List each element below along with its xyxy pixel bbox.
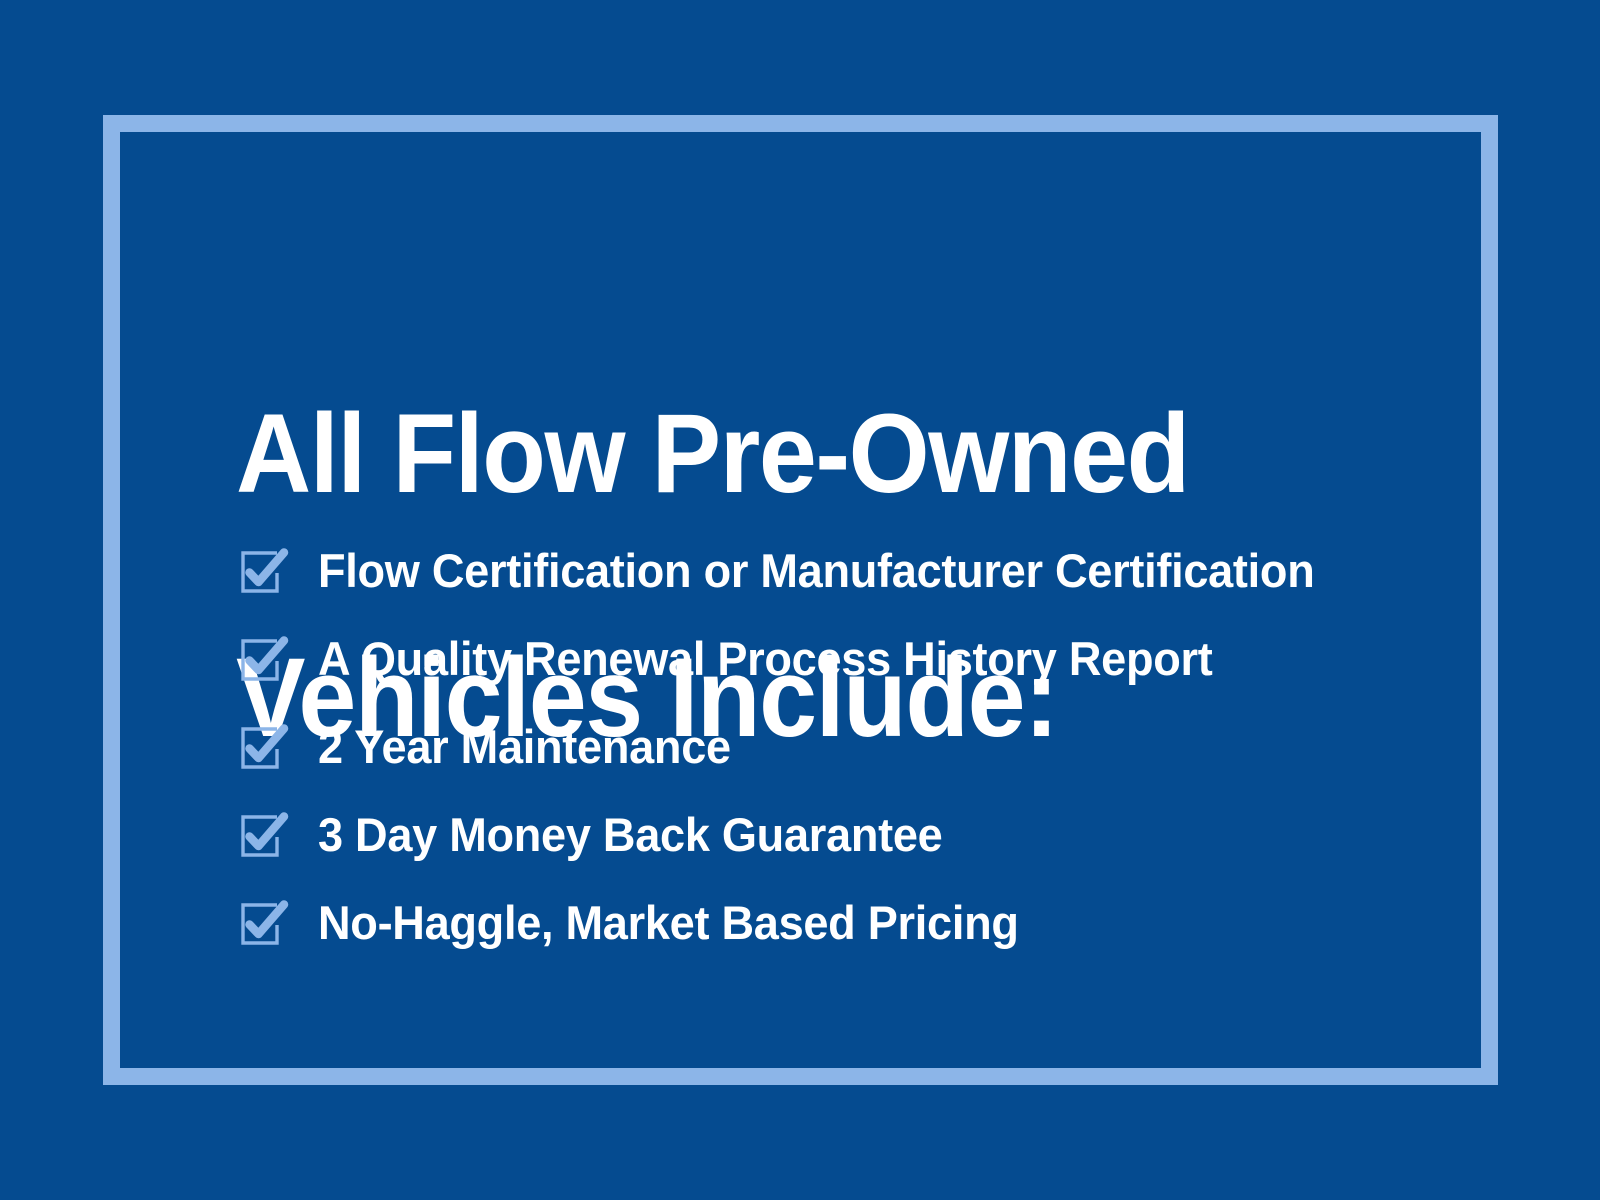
list-item: 2 Year Maintenance: [236, 703, 1436, 791]
checkbox-checked-icon: [236, 810, 292, 860]
list-item-label: No-Haggle, Market Based Pricing: [318, 898, 1019, 948]
list-item: 3 Day Money Back Guarantee: [236, 791, 1436, 879]
checkbox-checked-icon: [236, 634, 292, 684]
benefits-list: Flow Certification or Manufacturer Certi…: [236, 527, 1436, 967]
checkbox-checked-icon: [236, 722, 292, 772]
list-item-label: 3 Day Money Back Guarantee: [318, 810, 942, 860]
page-title-line-1: All Flow Pre-Owned: [236, 393, 1315, 515]
list-item-label: A Quality Renewal Process History Report: [318, 634, 1212, 684]
list-item: No-Haggle, Market Based Pricing: [236, 879, 1436, 967]
promotional-poster: All Flow Pre-Owned Vehicles Include: Flo…: [0, 0, 1600, 1200]
checkbox-checked-icon: [236, 546, 292, 596]
list-item-label: Flow Certification or Manufacturer Certi…: [318, 546, 1314, 596]
list-item: Flow Certification or Manufacturer Certi…: [236, 527, 1436, 615]
checkbox-checked-icon: [236, 898, 292, 948]
list-item: A Quality Renewal Process History Report: [236, 615, 1436, 703]
list-item-label: 2 Year Maintenance: [318, 722, 731, 772]
